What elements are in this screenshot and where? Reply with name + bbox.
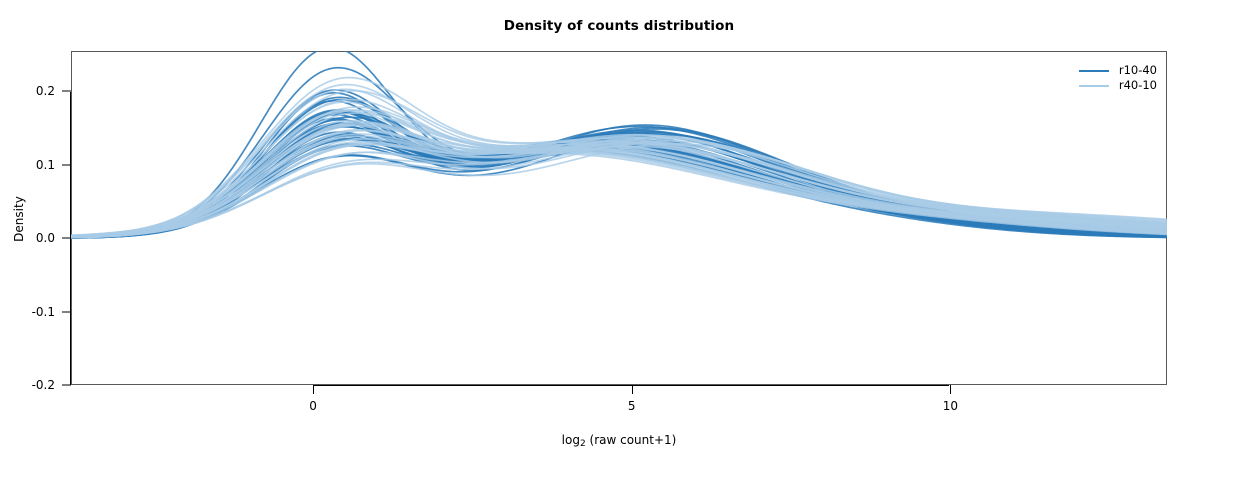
legend-label: r40-10	[1119, 78, 1157, 93]
legend[interactable]: r10-40r40-10	[1073, 61, 1161, 95]
x-tick-label: 5	[628, 399, 636, 413]
y-tick-mark	[62, 91, 71, 92]
chart-title: Density of counts distribution	[0, 18, 1238, 34]
legend-item[interactable]: r10-40	[1079, 63, 1157, 78]
x-tick-label: 10	[943, 399, 958, 413]
x-tick-mark	[313, 385, 314, 394]
y-tick-label: 0.2	[36, 84, 55, 98]
x-axis-label-base: log	[562, 433, 580, 447]
x-axis-label-subscript: 2	[580, 439, 586, 449]
x-tick-mark	[632, 385, 633, 394]
y-axis-label: Density	[12, 196, 26, 242]
legend-swatch	[1079, 85, 1109, 87]
density-curves	[71, 51, 1167, 385]
x-axis-label-rest: (raw count+1)	[590, 433, 677, 447]
plot-area: 0.20.10.0-0.1-0.2 0510 Density log2 (raw…	[71, 51, 1167, 385]
y-tick-label: -0.1	[32, 305, 55, 319]
y-tick-mark	[62, 238, 71, 239]
legend-item[interactable]: r40-10	[1079, 78, 1157, 93]
legend-label: r10-40	[1119, 63, 1157, 78]
y-tick-label: 0.0	[36, 231, 55, 245]
y-tick-label: -0.2	[32, 378, 55, 392]
x-axis-label: log2 (raw count+1)	[562, 433, 677, 449]
y-tick-mark	[62, 385, 71, 386]
y-tick-mark	[62, 311, 71, 312]
y-tick-mark	[62, 164, 71, 165]
density-plot-figure: Density of counts distribution 0.20.10.0…	[0, 0, 1238, 500]
x-tick-mark	[950, 385, 951, 394]
y-tick-label: 0.1	[36, 158, 55, 172]
x-tick-label: 0	[309, 399, 317, 413]
legend-swatch	[1079, 70, 1109, 72]
